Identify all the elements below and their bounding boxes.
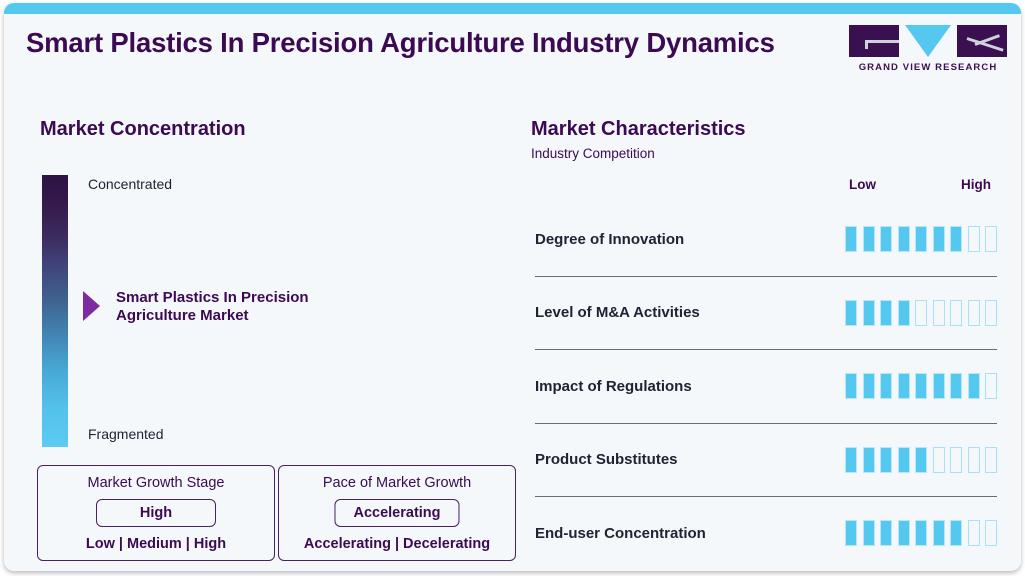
- meter-tick-filled: [933, 373, 945, 399]
- meter-tick-filled: [863, 447, 875, 473]
- pace-of-market-growth-scale: Accelerating | Decelerating: [279, 536, 515, 552]
- market-growth-stage-title: Market Growth Stage: [38, 475, 274, 491]
- meter-tick-filled: [933, 520, 945, 546]
- characteristics-rows: Degree of InnovationLevel of M&A Activit…: [535, 203, 997, 570]
- market-growth-stage-value: High: [96, 499, 216, 527]
- meter-tick-filled: [845, 520, 857, 546]
- meter-tick-empty: [950, 447, 962, 473]
- meter-tick-filled: [845, 373, 857, 399]
- meter-tick-filled: [880, 447, 892, 473]
- meter-tick-filled: [863, 226, 875, 252]
- meter-tick-empty: [968, 520, 980, 546]
- pace-of-market-growth-box: Pace of Market Growth Accelerating Accel…: [278, 465, 516, 561]
- characteristic-row: Product Substitutes: [535, 423, 997, 497]
- characteristic-label: Product Substitutes: [535, 451, 678, 468]
- meter-tick-filled: [880, 373, 892, 399]
- characteristic-row: Level of M&A Activities: [535, 276, 997, 350]
- logo-marks: [849, 25, 1007, 57]
- market-growth-stage-scale: Low | Medium | High: [38, 536, 274, 552]
- meter-tick-filled: [898, 300, 910, 326]
- meter-tick-empty: [968, 300, 980, 326]
- scale-label-low: Low: [849, 177, 876, 192]
- meter-tick-filled: [863, 300, 875, 326]
- characteristic-label: Level of M&A Activities: [535, 304, 700, 321]
- scale-label-high: High: [961, 177, 991, 192]
- meter-tick-filled: [915, 226, 927, 252]
- meter-tick-filled: [880, 300, 892, 326]
- logo-triangle-icon: [905, 25, 951, 57]
- market-characteristics-subtitle: Industry Competition: [531, 146, 655, 161]
- characteristic-row: End-user Concentration: [535, 496, 997, 570]
- concentration-marker-arrow-icon: [83, 291, 100, 321]
- characteristic-row: Impact of Regulations: [535, 349, 997, 423]
- concentration-top-label: Concentrated: [88, 176, 172, 192]
- meter-tick-filled: [933, 226, 945, 252]
- characteristic-label: End-user Concentration: [535, 525, 706, 542]
- meter-tick-filled: [845, 447, 857, 473]
- characteristic-meter: [845, 226, 997, 252]
- meter-tick-empty: [985, 447, 997, 473]
- characteristic-meter: [845, 373, 997, 399]
- pace-of-market-growth-value: Accelerating: [334, 499, 459, 527]
- pace-of-market-growth-title: Pace of Market Growth: [279, 475, 515, 491]
- logo-wordmark: GRAND VIEW RESEARCH: [849, 62, 1007, 73]
- characteristic-label: Degree of Innovation: [535, 231, 684, 248]
- logo-r-square-icon: [957, 25, 1007, 57]
- characteristic-label: Impact of Regulations: [535, 378, 692, 395]
- market-growth-stage-box: Market Growth Stage High Low | Medium | …: [37, 465, 275, 561]
- meter-tick-filled: [898, 447, 910, 473]
- meter-tick-filled: [880, 226, 892, 252]
- logo-g-bar: [865, 40, 899, 43]
- grand-view-research-logo: GRAND VIEW RESEARCH: [849, 25, 1007, 75]
- meter-tick-filled: [950, 226, 962, 252]
- meter-tick-filled: [915, 373, 927, 399]
- meter-tick-empty: [985, 300, 997, 326]
- top-accent-bar: [4, 3, 1021, 14]
- meter-tick-filled: [950, 520, 962, 546]
- logo-g-stem: [865, 40, 868, 49]
- meter-tick-filled: [950, 373, 962, 399]
- logo-g-square-icon: [849, 25, 899, 57]
- concentration-marker-label: Smart Plastics In Precision Agriculture …: [116, 289, 366, 327]
- infographic-card: Smart Plastics In Precision Agriculture …: [4, 3, 1021, 571]
- characteristic-meter: [845, 300, 997, 326]
- meter-tick-filled: [898, 373, 910, 399]
- meter-tick-empty: [968, 447, 980, 473]
- page-title: Smart Plastics In Precision Agriculture …: [26, 27, 775, 59]
- meter-tick-empty: [933, 300, 945, 326]
- meter-tick-empty: [968, 226, 980, 252]
- market-characteristics-title: Market Characteristics: [531, 118, 746, 141]
- meter-tick-filled: [968, 373, 980, 399]
- characteristic-meter: [845, 447, 997, 473]
- concentration-bottom-label: Fragmented: [88, 426, 163, 442]
- meter-tick-filled: [863, 520, 875, 546]
- meter-tick-filled: [863, 373, 875, 399]
- meter-tick-empty: [985, 373, 997, 399]
- meter-tick-filled: [898, 226, 910, 252]
- meter-tick-filled: [845, 300, 857, 326]
- meter-tick-empty: [985, 226, 997, 252]
- meter-tick-filled: [915, 447, 927, 473]
- meter-tick-filled: [898, 520, 910, 546]
- characteristic-row: Degree of Innovation: [535, 203, 997, 276]
- meter-tick-empty: [950, 300, 962, 326]
- meter-tick-filled: [845, 226, 857, 252]
- meter-tick-empty: [985, 520, 997, 546]
- meter-tick-empty: [915, 300, 927, 326]
- market-concentration-title: Market Concentration: [40, 118, 246, 141]
- meter-tick-filled: [915, 520, 927, 546]
- meter-tick-empty: [933, 447, 945, 473]
- meter-tick-filled: [880, 520, 892, 546]
- characteristic-meter: [845, 520, 997, 546]
- concentration-gradient-bar: [42, 175, 68, 447]
